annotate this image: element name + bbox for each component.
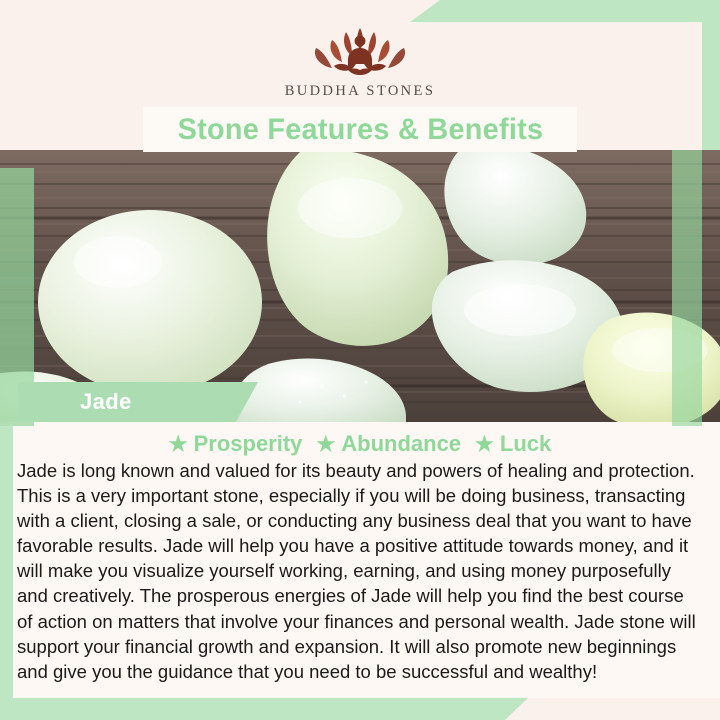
bottom-accent-band <box>0 696 560 720</box>
benefit-item-prosperity: ★ Prosperity <box>169 431 303 457</box>
benefit-item-abundance: ★ Abundance <box>316 431 461 457</box>
star-icon: ★ <box>316 434 335 455</box>
description-text: Jade is long known and valued for its be… <box>17 458 702 684</box>
promo-card: BUDDHA STONES Stone Features & Benefits <box>0 0 720 720</box>
benefit-item-luck: ★ Luck <box>475 431 551 457</box>
stone-name-band: Jade <box>18 382 258 422</box>
benefits-row: ★ Prosperity ★ Abundance ★ Luck <box>0 431 720 457</box>
title-banner: Stone Features & Benefits <box>143 107 577 152</box>
content-left-accent-strip <box>0 426 13 698</box>
brand-name: BUDDHA STONES <box>285 83 436 100</box>
page-title: Stone Features & Benefits <box>177 113 543 147</box>
lotus-meditation-icon <box>294 20 426 82</box>
stone-name-label: Jade <box>80 389 132 415</box>
photo-right-accent-bar <box>672 150 702 426</box>
brand-logo: BUDDHA STONES <box>0 20 720 110</box>
stone-photo-image <box>0 150 720 422</box>
stone-photo <box>0 150 720 422</box>
top-accent-band-notch <box>0 0 440 22</box>
star-icon: ★ <box>169 434 188 455</box>
benefit-label: Prosperity <box>194 431 303 457</box>
benefit-label: Abundance <box>341 431 461 457</box>
benefit-label: Luck <box>500 431 551 457</box>
star-icon: ★ <box>475 434 494 455</box>
